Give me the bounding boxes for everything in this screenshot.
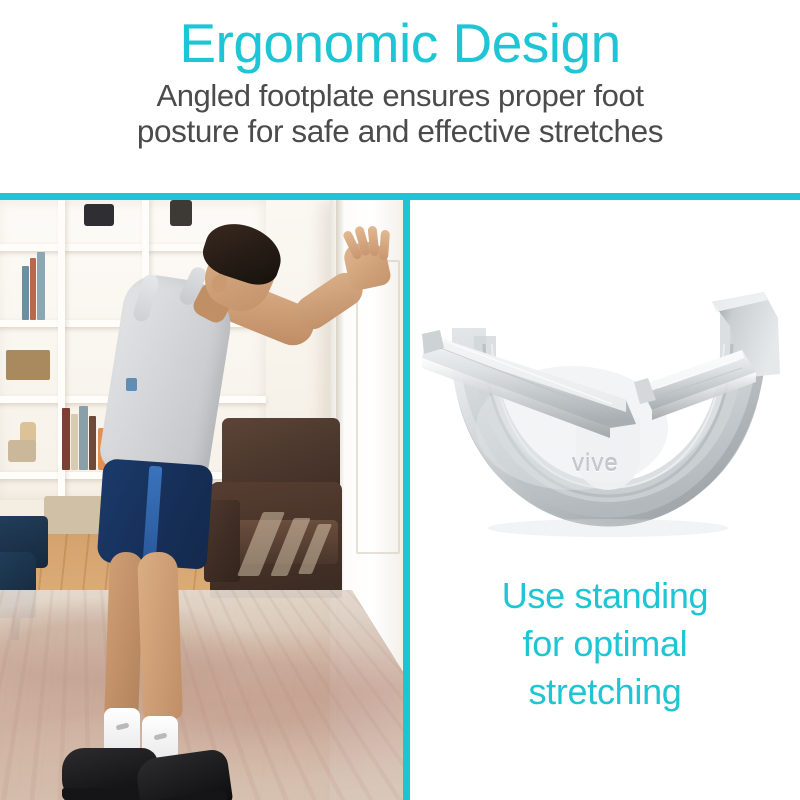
vertical-divider (403, 193, 410, 800)
caption-line-3: stretching (410, 668, 800, 716)
finger (379, 230, 390, 261)
product-stretcher-illustration (412, 278, 800, 558)
tank-top-logo (126, 378, 137, 391)
header-block: Ergonomic Design Angled footplate ensure… (0, 0, 800, 193)
caption-line-2: for optimal (410, 620, 800, 668)
caption-line-1: Use standing (410, 572, 800, 620)
subtitle-line-1: Angled footplate ensures proper foot (0, 78, 800, 113)
person-stretching (0, 200, 403, 800)
page-title: Ergonomic Design (0, 0, 800, 74)
product-caption: Use standing for optimal stretching (410, 572, 800, 716)
vive-brand-logo: vive (572, 450, 619, 478)
lifestyle-photo (0, 200, 403, 800)
product-panel: vive Use standing for optimal stretching (410, 200, 800, 800)
product-feature-image: Ergonomic Design Angled footplate ensure… (0, 0, 800, 800)
subtitle-line-2: posture for safe and effective stretches (0, 114, 800, 149)
horizontal-divider (0, 193, 800, 200)
finger (367, 226, 379, 257)
front-leg (137, 551, 183, 720)
